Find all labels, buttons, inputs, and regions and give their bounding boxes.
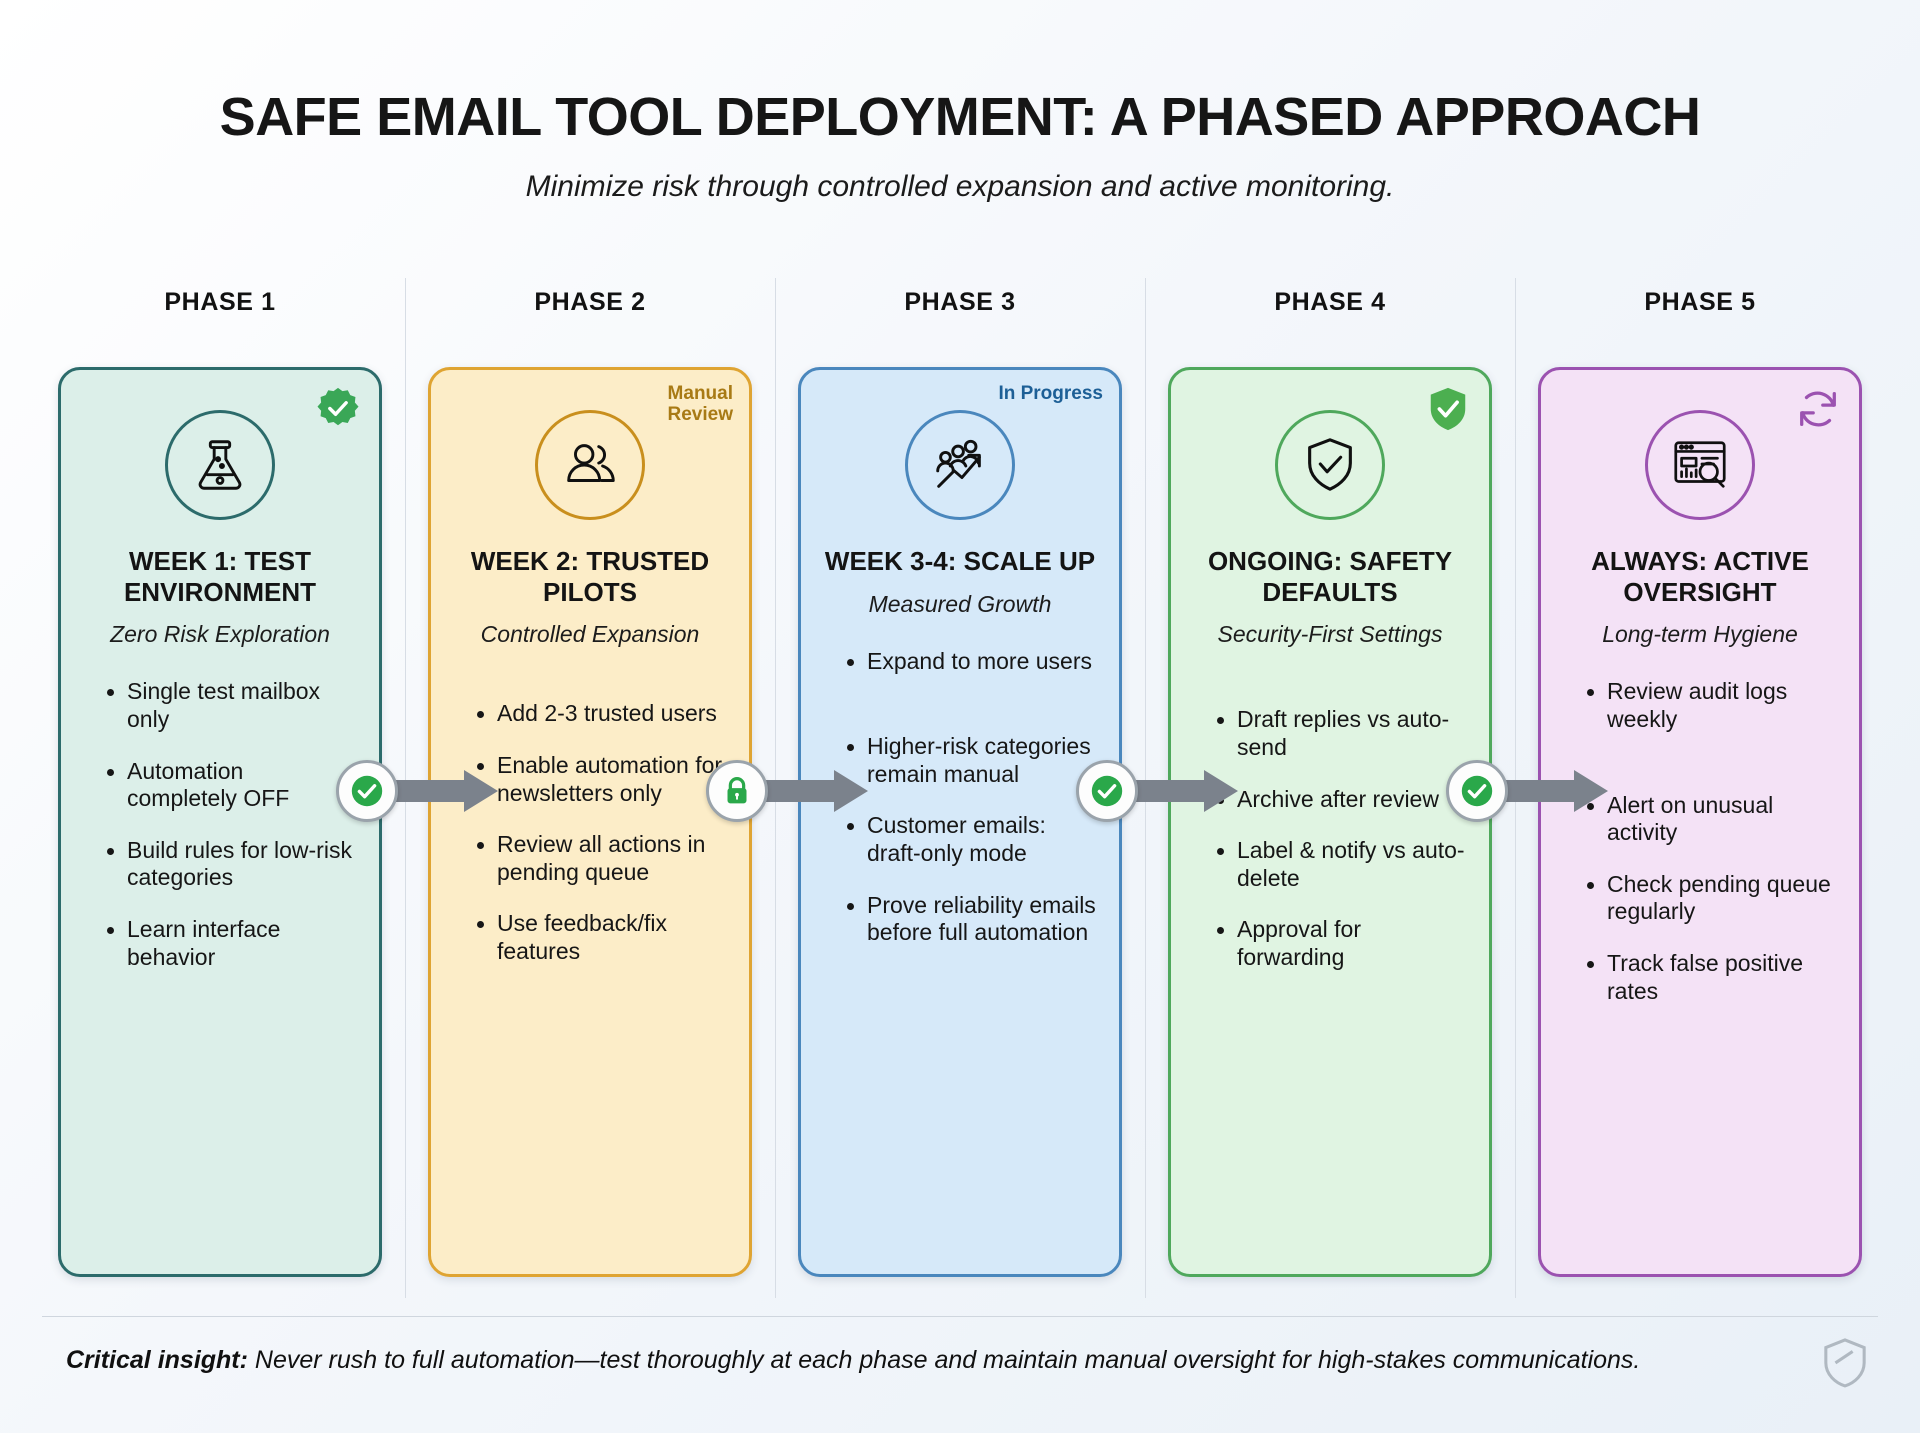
page-subtitle: Minimize risk through controlled expansi… <box>0 170 1920 204</box>
phase-card-subtitle: Zero Risk Exploration <box>81 621 359 648</box>
footer-label: Critical insight: <box>66 1346 248 1374</box>
users-icon <box>535 410 645 520</box>
list-item: Learn interface behavior <box>107 916 359 971</box>
phase-label-1: PHASE 1 <box>58 288 382 317</box>
list-item: Check pending queue regularly <box>1587 871 1839 926</box>
list-item: Automation completely OFF <box>107 758 359 813</box>
growth-users-icon <box>905 410 1015 520</box>
list-item: Expand to more users <box>847 648 1099 676</box>
phase-label-2: PHASE 2 <box>428 288 752 317</box>
list-item: Label & notify vs auto-delete <box>1217 837 1469 892</box>
phase-card-title: WEEK 1: TEST ENVIRONMENT <box>81 546 359 607</box>
list-item: Higher-risk categories remain manual <box>847 733 1099 788</box>
phase-card-bullets: Review audit logs weeklyAlert on unusual… <box>1561 678 1839 1005</box>
phase-card-subtitle: Long-term Hygiene <box>1561 621 1839 648</box>
list-item: Build rules for low-risk categories <box>107 837 359 892</box>
phase-card-1[interactable]: WEEK 1: TEST ENVIRONMENTZero Risk Explor… <box>58 367 382 1277</box>
phase-card-title: WEEK 3-4: SCALE UP <box>821 546 1099 577</box>
phase-label-row: PHASE 1PHASE 2PHASE 3PHASE 4PHASE 5 <box>58 288 1862 317</box>
phase-card-bullets: Add 2-3 trusted usersEnable automation f… <box>451 700 729 965</box>
phase-card-bullets: Expand to more usersHigher-risk categori… <box>821 648 1099 947</box>
refresh-badge-icon <box>1795 386 1841 432</box>
phase-cards: WEEK 1: TEST ENVIRONMENTZero Risk Explor… <box>58 367 1862 1277</box>
list-item: Track false positive rates <box>1587 950 1839 1005</box>
list-item: Prove reliability emails before full aut… <box>847 892 1099 947</box>
dashboard-search-icon <box>1645 410 1755 520</box>
list-item: Use feedback/fix features <box>477 910 729 965</box>
list-item: Customer emails: draft-only mode <box>847 812 1099 867</box>
footer-text: Never rush to full automation—test thoro… <box>248 1346 1640 1374</box>
phase-card-bullets: Draft replies vs auto-sendArchive after … <box>1191 706 1469 971</box>
list-item: Alert on unusual activity <box>1587 792 1839 847</box>
verified-badge-icon <box>315 386 361 432</box>
list-item: Review audit logs weekly <box>1587 678 1839 733</box>
phase-card-title: ALWAYS: ACTIVE OVERSIGHT <box>1561 546 1839 607</box>
flask-icon <box>165 410 275 520</box>
list-item: Single test mailbox only <box>107 678 359 733</box>
phase-card-subtitle: Controlled Expansion <box>451 621 729 648</box>
phase-card-bullets: Single test mailbox onlyAutomation compl… <box>81 678 359 971</box>
footer-divider <box>42 1316 1878 1317</box>
phase-card-4[interactable]: ONGOING: SAFETY DEFAULTSSecurity-First S… <box>1168 367 1492 1277</box>
shield-logo-icon <box>1822 1338 1868 1390</box>
phase-label-4: PHASE 4 <box>1168 288 1492 317</box>
phase-card-3[interactable]: In ProgressWEEK 3-4: SCALE UPMeasured Gr… <box>798 367 1122 1277</box>
page-title: SAFE EMAIL TOOL DEPLOYMENT: A PHASED APP… <box>0 86 1920 148</box>
phase-card-subtitle: Measured Growth <box>821 591 1099 618</box>
phase-label-5: PHASE 5 <box>1538 288 1862 317</box>
list-item: Review all actions in pending queue <box>477 831 729 886</box>
list-item: Enable automation for newsletters only <box>477 752 729 807</box>
infographic-header: SAFE EMAIL TOOL DEPLOYMENT: A PHASED APP… <box>0 0 1920 204</box>
list-item: Approval for forwarding <box>1217 916 1469 971</box>
phase-card-2[interactable]: Manual ReviewWEEK 2: TRUSTED PILOTSContr… <box>428 367 752 1277</box>
shield-badge-icon <box>1425 386 1471 432</box>
phase-label-3: PHASE 3 <box>798 288 1122 317</box>
status-badge: In Progress <box>998 384 1103 405</box>
status-badge: Manual Review <box>623 384 733 426</box>
phase-card-title: WEEK 2: TRUSTED PILOTS <box>451 546 729 607</box>
list-item: Add 2-3 trusted users <box>477 700 729 728</box>
list-item: Draft replies vs auto-send <box>1217 706 1469 761</box>
phase-card-title: ONGOING: SAFETY DEFAULTS <box>1191 546 1469 607</box>
phase-card-subtitle: Security-First Settings <box>1191 621 1469 648</box>
shield-check-icon <box>1275 410 1385 520</box>
footer-note: Critical insight: Never rush to full aut… <box>66 1346 1640 1375</box>
phase-card-5[interactable]: ALWAYS: ACTIVE OVERSIGHTLong-term Hygien… <box>1538 367 1862 1277</box>
list-item: Archive after review <box>1217 786 1469 814</box>
